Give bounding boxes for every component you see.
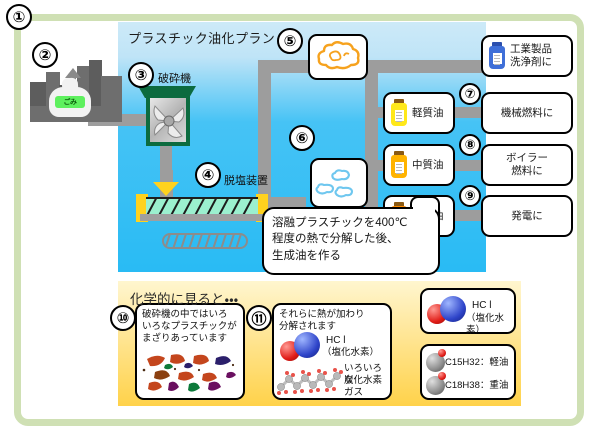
legend-row-heavy-oil: C18H38 ： 重油 [445, 380, 508, 392]
bottle-icon-medium-oil [389, 151, 409, 179]
hydrocarbon-chain-illustration [277, 365, 347, 397]
chem-box-decomposition-line1: それらに熱が加わり [279, 309, 385, 321]
legend-sep-1: ： [480, 380, 490, 392]
pipe-shredder-stem [160, 140, 172, 182]
legend-hydrogen-dot-light [438, 349, 446, 357]
process-callout: 溶融プラスチックを400℃ 程度の熱で分解した後、 生成油を作る [262, 207, 440, 275]
diagram-root: プラスチック油化プラント ① ② ごみ ③ 破砕機 [0, 0, 600, 443]
chem-box-decomposition: それらに熱が加わり 分解されます HC l （塩化水素） [272, 303, 392, 400]
plastic-flakes-illustration [141, 349, 241, 397]
step-marker-9: ⑨ [459, 185, 481, 207]
legend-card-hcl: HC l （塩化水素） [420, 288, 516, 334]
step-marker-8: ⑧ [459, 134, 481, 156]
cracking-reactor-box [310, 158, 368, 208]
use-label-industrial-line1: 工業製品 [510, 43, 552, 55]
use-label-boiler-line1: ボイラー [506, 152, 548, 164]
chem-hcl-japanese: （塩化水素） [322, 347, 379, 359]
use-label-boiler-line2: 燃料に [511, 165, 543, 177]
desalination-label: 脱塩装置 [224, 172, 268, 188]
conveyor-frame [140, 214, 264, 221]
use-card-boiler-fuel: ボイラー 燃料に [481, 144, 573, 186]
step-marker-11: ⑪ [246, 305, 272, 331]
factory-illustration: ごみ [30, 60, 122, 122]
desalination-funnel [153, 182, 179, 196]
vapor-box [308, 34, 368, 80]
plant-title: プラスチック油化プラント [128, 28, 289, 47]
legend-hcl-japanese: （塩化水素） [466, 313, 514, 337]
legend-hydrogen-dot-heavy [438, 372, 446, 380]
step-marker-10: ⑩ [110, 305, 136, 331]
chem-hcl-formula: HC l [326, 335, 345, 348]
product-label-light-oil: 軽質油 [412, 107, 444, 120]
pipe-to-industrial [365, 60, 490, 73]
legend-name-light-oil: 軽油 [489, 357, 508, 369]
step-marker-7: ⑦ [459, 83, 481, 105]
process-callout-line2: 程度の熱で分解した後、 [272, 231, 430, 247]
chem-gas-line3: ガス [344, 387, 363, 399]
trash-bag-label: ごみ [55, 96, 85, 108]
process-callout-line1: 溶融プラスチックを400℃ [272, 215, 430, 231]
desalination-heater-coil [162, 233, 248, 249]
process-callout-line3: 生成油を作る [272, 248, 430, 264]
use-label-industrial-line2: 洗浄剤に [510, 56, 552, 68]
step-marker-1: ① [6, 4, 32, 30]
chem-box-plastics: 破砕機の中ではいろ いろなプラスチックが まざりあっています [135, 303, 245, 400]
legend-formula-c15h32: C15H32 [445, 357, 480, 369]
legend-row-light-oil: C15H32 ： 軽油 [445, 357, 508, 369]
shredder-body [146, 94, 190, 146]
chem-box-plastics-line1: 破砕機の中ではいろ [142, 309, 238, 321]
steam-cloud-icon [315, 41, 361, 73]
use-card-machine-fuel: 機械燃料に [481, 92, 573, 134]
step-marker-6: ⑥ [289, 125, 315, 151]
step-marker-5: ⑤ [277, 28, 303, 54]
step-marker-3: ③ [128, 62, 154, 88]
legend-sep-0: ： [480, 357, 490, 369]
hcl-chlorine-sphere [294, 332, 320, 358]
legend-chlorine-sphere [440, 296, 466, 322]
use-card-industrial: 工業製品 洗浄剤に [481, 35, 573, 77]
legend-name-heavy-oil: 重油 [489, 380, 508, 392]
chemistry-title: 化学的に見ると・・・ [130, 288, 238, 308]
use-card-power-generation: 発電に [481, 195, 573, 237]
chem-box-plastics-line3: まざりあっています [142, 333, 238, 345]
shredder-label: 破砕機 [158, 70, 191, 86]
legend-formula-c18h38: C18H38 [445, 380, 480, 392]
chem-box-decomposition-line2: 分解されます [279, 321, 385, 333]
use-label-machine-fuel: 機械燃料に [501, 107, 554, 120]
liquid-droplets-icon [315, 163, 363, 203]
chem-gas-line2: 炭化水素 [344, 375, 382, 387]
step-marker-2: ② [32, 42, 58, 68]
product-card-medium-oil: 中質油 [383, 144, 455, 186]
product-label-medium-oil: 中質油 [412, 159, 444, 172]
use-label-power-generation: 発電に [511, 210, 543, 223]
product-card-light-oil: 軽質油 [383, 92, 455, 134]
bottle-icon-light-oil [389, 99, 409, 127]
bottle-icon-detergent [487, 42, 507, 70]
step-marker-4: ④ [195, 162, 221, 188]
trash-bag-icon: ごみ [49, 78, 93, 118]
legend-hcl-formula: HC l [472, 300, 491, 313]
chem-box-plastics-line2: いろなプラスチックが [142, 321, 238, 333]
legend-card-oils: C15H32 ： 軽油 C18H38 ： 重油 [420, 344, 516, 400]
